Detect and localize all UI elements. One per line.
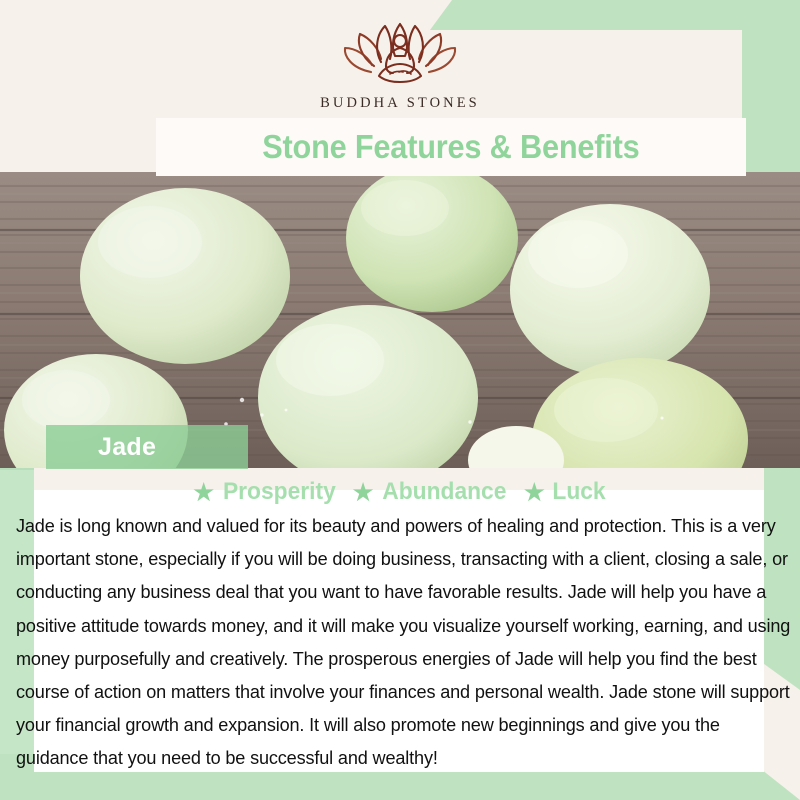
- benefit-item-luck: ★ Luck: [524, 478, 607, 506]
- lotus-meditation-icon: [0, 18, 800, 89]
- brand-logo-block: BUDDHA STONES: [0, 18, 800, 112]
- jade-stones-photo: [0, 172, 800, 468]
- page-title: Stone Features & Benefits: [262, 128, 639, 166]
- benefits-row: ★ Prosperity ★ Abundance ★ Luck: [0, 478, 800, 506]
- benefit-item-prosperity: ★ Prosperity: [193, 478, 338, 506]
- benefit-label: Prosperity: [223, 478, 336, 506]
- content-section: ★ Prosperity ★ Abundance ★ Luck Jade is …: [0, 468, 800, 800]
- stone-name-label: Jade: [46, 433, 156, 462]
- benefit-item-abundance: ★ Abundance: [353, 478, 510, 506]
- star-icon: ★: [193, 481, 214, 504]
- benefit-label: Luck: [552, 478, 605, 506]
- stone-description: Jade is long known and valued for its be…: [16, 510, 791, 776]
- star-icon: ★: [353, 481, 374, 504]
- stone-name-band: Jade: [46, 425, 248, 469]
- brand-wordmark: BUDDHA STONES: [0, 95, 800, 112]
- title-panel: Stone Features & Benefits: [156, 118, 746, 176]
- benefit-label: Abundance: [383, 478, 507, 506]
- star-icon: ★: [524, 481, 545, 504]
